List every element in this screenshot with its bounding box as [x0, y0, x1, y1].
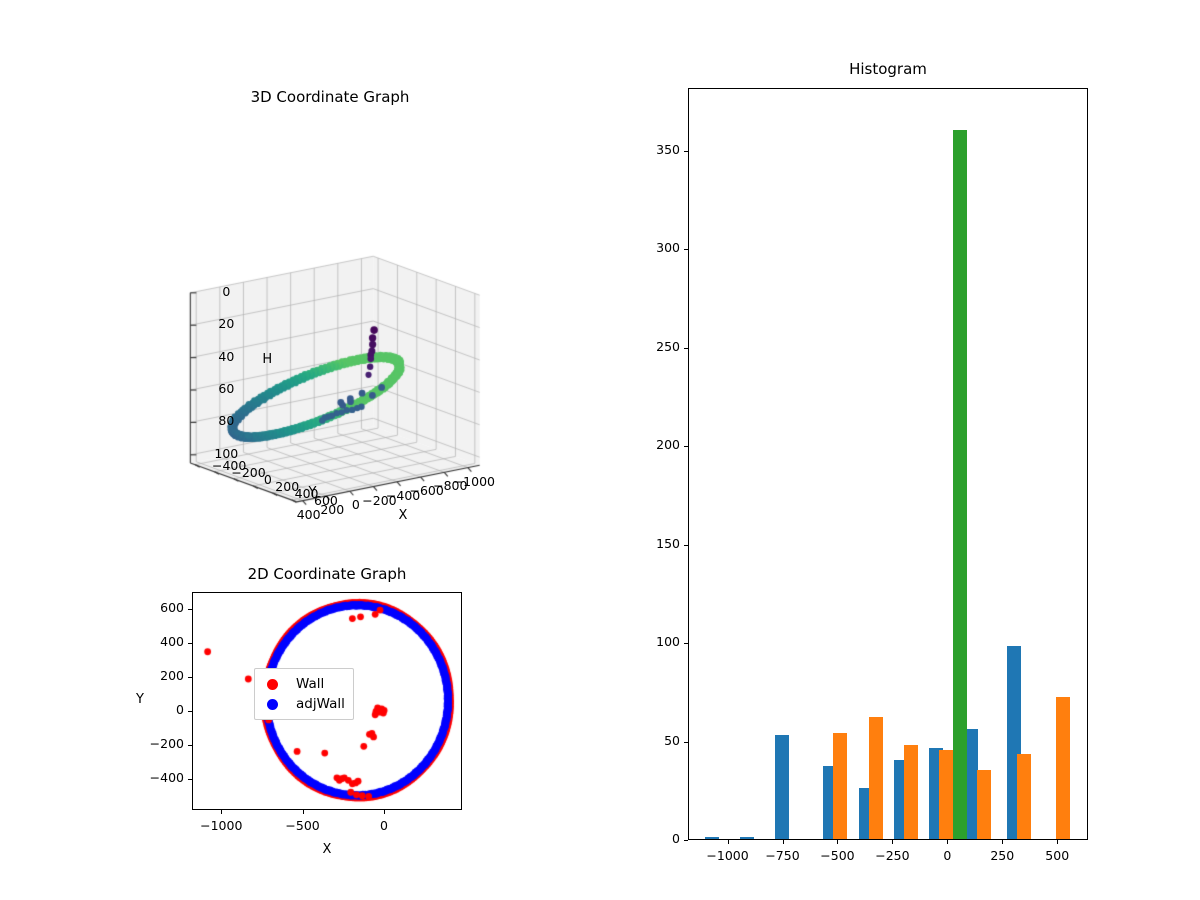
- plot-3d-ztick-3: 60: [218, 381, 234, 396]
- plot-3d-zlabel: H: [262, 352, 272, 367]
- histogram-bar-orange-1: [869, 717, 883, 839]
- histogram-xtick-0: −1000: [706, 848, 748, 863]
- histogram-ytickmark-4: [684, 446, 688, 447]
- plot-2d-legend: Wall adjWall: [254, 668, 354, 720]
- histogram-xtick-1: −750: [765, 848, 799, 863]
- histogram-bar-orange-4: [977, 770, 991, 839]
- histogram-ytick-7: 350: [656, 142, 680, 157]
- histogram-xtickmark-0: [728, 840, 729, 844]
- histogram-xtickmark-5: [1002, 840, 1003, 844]
- plot-2d-xlabel: X: [323, 842, 332, 857]
- plot-2d-xtick-0: −1000: [200, 818, 242, 833]
- histogram-xtick-5: 250: [990, 848, 1014, 863]
- histogram-title: Histogram: [688, 60, 1088, 78]
- histogram-bar-blue-1: [740, 837, 754, 839]
- plot-2d-ytick-4: 400: [160, 634, 184, 649]
- histogram-xtick-3: −250: [875, 848, 909, 863]
- plot-2d-ytick-1: −200: [150, 736, 184, 751]
- histogram-ytick-6: 300: [656, 240, 680, 255]
- plot-3d-xtick-7: 400: [297, 507, 321, 522]
- plot-3d-ztick-1: 20: [218, 316, 234, 331]
- histogram-xtickmark-4: [947, 840, 948, 844]
- histogram-axes-frame: [688, 88, 1088, 840]
- legend-entry-wall: Wall: [261, 674, 345, 694]
- plot-2d-ytickmark-2: [188, 711, 192, 712]
- histogram-ytick-2: 100: [656, 634, 680, 649]
- plot-2d-ytickmark-1: [188, 745, 192, 746]
- plot-2d-title: 2D Coordinate Graph: [127, 565, 527, 583]
- histogram-ytickmark-7: [684, 151, 688, 152]
- plot-3d-xlabel: X: [399, 508, 408, 523]
- histogram-bar-orange-2: [904, 745, 918, 839]
- legend-label-wall: Wall: [296, 674, 324, 694]
- histogram-ytickmark-3: [684, 545, 688, 546]
- histogram-xtickmark-3: [892, 840, 893, 844]
- histogram-ytick-0: 0: [672, 831, 680, 846]
- plot-2d-xtickmark-0: [221, 810, 222, 814]
- plot-3d-ztick-5: 100: [214, 446, 238, 461]
- histogram-ytickmark-1: [684, 742, 688, 743]
- histogram-ytickmark-2: [684, 643, 688, 644]
- matplotlib-figure: 3D Coordinate Graph X Y H −1000−800−600−…: [0, 0, 1200, 900]
- plot-2d-xtick-2: 0: [380, 818, 388, 833]
- histogram-xtick-4: 0: [943, 848, 951, 863]
- histogram-ytick-1: 50: [664, 733, 680, 748]
- legend-marker-wall: [267, 679, 278, 690]
- histogram-bar-blue-0: [705, 837, 719, 839]
- plot-2d-ytickmark-4: [188, 643, 192, 644]
- plot-2d-ytick-0: −400: [150, 770, 184, 785]
- plot-3d-coordinate-graph: 3D Coordinate Graph X Y H −1000−800−600−…: [120, 60, 580, 520]
- plot-histogram: Histogram −1000−750−500−2500250500050100…: [620, 60, 1100, 860]
- histogram-ytick-3: 150: [656, 536, 680, 551]
- histogram-ytickmark-6: [684, 249, 688, 250]
- plot-3d-ytick-2: 0: [264, 472, 272, 487]
- histogram-xtick-2: −500: [820, 848, 854, 863]
- legend-entry-adjwall: adjWall: [261, 694, 345, 714]
- plot-2d-ytick-3: 200: [160, 668, 184, 683]
- plot-2d-ytickmark-3: [188, 677, 192, 678]
- plot-2d-ytick-2: 0: [176, 702, 184, 717]
- histogram-ytick-5: 250: [656, 339, 680, 354]
- plot-3d-xtick-5: 0: [352, 497, 360, 512]
- plot-2d-ylabel: Y: [136, 692, 144, 707]
- legend-label-adjwall: adjWall: [296, 694, 345, 714]
- histogram-bar-orange-5: [1017, 754, 1031, 839]
- plot-2d-xtick-1: −500: [285, 818, 319, 833]
- legend-marker-adjwall: [267, 699, 278, 710]
- histogram-bar-orange-0: [833, 733, 847, 839]
- plot-3d-ztick-0: 0: [222, 284, 230, 299]
- histogram-bar-orange-6: [1056, 697, 1070, 839]
- plot-3d-ytick-1: −200: [231, 465, 265, 480]
- histogram-xtick-6: 500: [1045, 848, 1069, 863]
- plot-2d-ytickmark-0: [188, 779, 192, 780]
- histogram-xtickmark-6: [1057, 840, 1058, 844]
- plot-3d-canvas: [120, 60, 580, 520]
- histogram-ytick-4: 200: [656, 437, 680, 452]
- histogram-ytickmark-0: [684, 840, 688, 841]
- plot-3d-xtick-4: −200: [362, 493, 396, 508]
- histogram-bar-blue-2: [775, 735, 789, 839]
- plot-3d-ztick-4: 80: [218, 413, 234, 428]
- plot-2d-ytickmark-5: [188, 609, 192, 610]
- histogram-ytickmark-5: [684, 348, 688, 349]
- histogram-xtickmark-1: [783, 840, 784, 844]
- histogram-xtickmark-2: [837, 840, 838, 844]
- plot-2d-coordinate-graph: 2D Coordinate Graph −1000−5000−400−20002…: [120, 555, 520, 875]
- plot-2d-xtickmark-2: [384, 810, 385, 814]
- plot-3d-ytick-5: 600: [314, 493, 338, 508]
- plot-3d-ztick-2: 40: [218, 349, 234, 364]
- histogram-bar-orange-3: [939, 750, 953, 839]
- plot-2d-ytick-5: 600: [160, 600, 184, 615]
- plot-2d-xtickmark-1: [303, 810, 304, 814]
- histogram-bar-green-0: [953, 130, 967, 839]
